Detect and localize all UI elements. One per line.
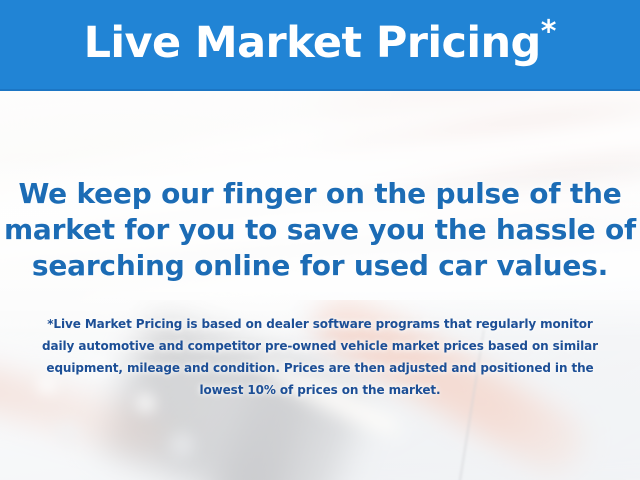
disclaimer-line-4: lowest 10% of prices on the market.	[0, 379, 640, 401]
page-title-asterisk: *	[541, 14, 557, 49]
header-bar: Live Market Pricing*	[0, 0, 640, 91]
headline-line-1: We keep our finger on the pulse of the	[0, 176, 640, 212]
page-title-text: Live Market Pricing	[84, 18, 541, 68]
page-title: Live Market Pricing*	[84, 22, 557, 68]
live-market-pricing-banner: Live Market Pricing* We keep our finger …	[0, 0, 640, 480]
headline: We keep our finger on the pulse of the m…	[0, 176, 640, 284]
disclaimer-line-3: equipment, mileage and condition. Prices…	[0, 357, 640, 379]
headline-line-3: searching online for used car values.	[0, 248, 640, 284]
headline-line-2: market for you to save you the hassle of	[0, 212, 640, 248]
disclaimer-line-2: daily automotive and competitor pre-owne…	[0, 335, 640, 357]
disclaimer: *Live Market Pricing is based on dealer …	[0, 313, 640, 401]
disclaimer-line-1: *Live Market Pricing is based on dealer …	[0, 313, 640, 335]
